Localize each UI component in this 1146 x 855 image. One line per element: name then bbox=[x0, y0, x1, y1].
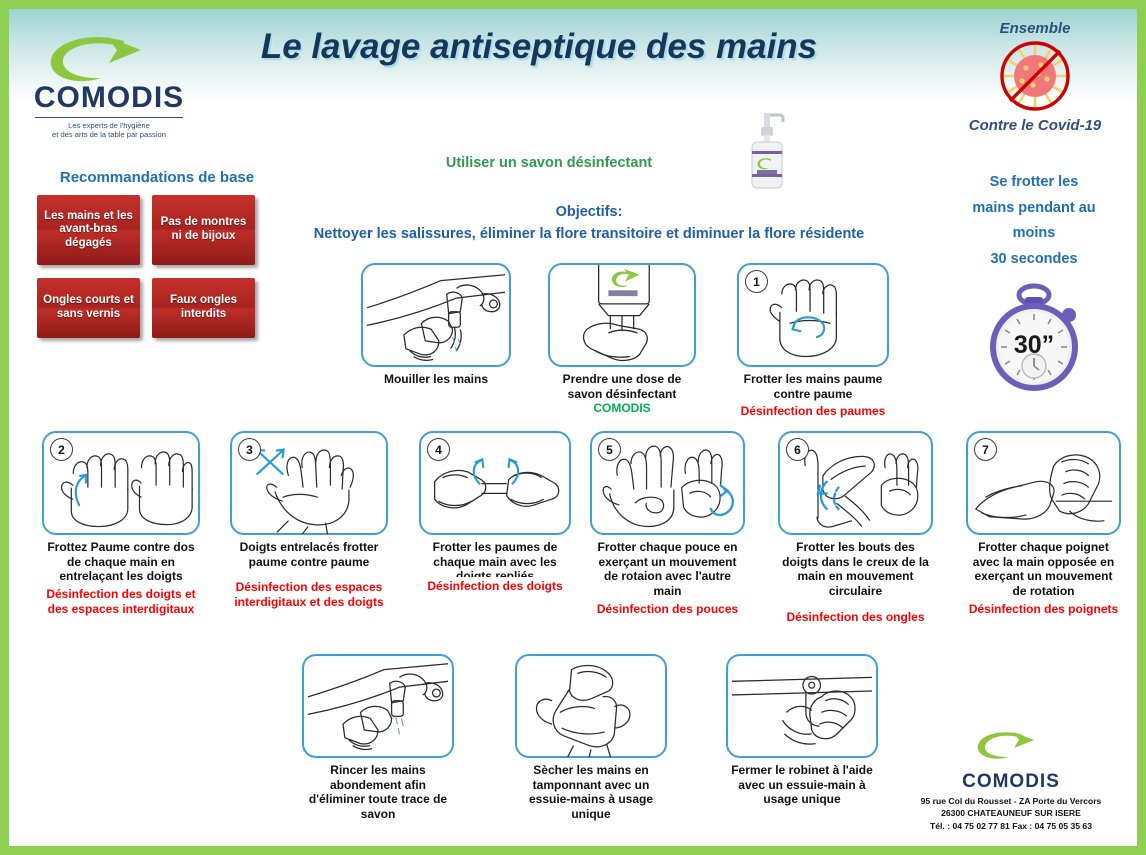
step-caption-1: Frotter les mains paume contre paume Dés… bbox=[737, 372, 889, 419]
timer-line-2: mains pendant au bbox=[943, 198, 1125, 219]
step-illustration-close-tap bbox=[726, 654, 878, 758]
step-illustration-wet-hands bbox=[361, 263, 511, 367]
step-caption-3-sub: Désinfection des espaces interdigitaux e… bbox=[230, 580, 388, 609]
step-take-soap: Prendre une dose de savon désinfectant C… bbox=[548, 263, 696, 416]
step-caption-6-text: Frotter les bouts des doigts dans le cre… bbox=[782, 540, 929, 598]
recommendation-box-1: Les mains et les avant-bras dégagés bbox=[37, 195, 140, 265]
step-illustration-7: 7 bbox=[966, 431, 1121, 535]
step-caption-2: Frottez Paume contre dos de chaque main … bbox=[42, 540, 200, 616]
close-tap-art bbox=[728, 656, 876, 757]
step-illustration-rinse bbox=[302, 654, 454, 758]
rinse-hands-art bbox=[304, 656, 452, 757]
step-caption-take-soap: Prendre une dose de savon désinfectant C… bbox=[548, 372, 696, 416]
swoosh-icon bbox=[29, 33, 189, 85]
step-3: 3 bbox=[230, 431, 388, 610]
step-caption-1-text: Frotter les mains paume contre paume bbox=[744, 372, 883, 401]
step-caption-6: Frotter les bouts des doigts dans le cre… bbox=[778, 540, 933, 624]
step-7: 7 Frotter chaque poignet avec la main op… bbox=[966, 431, 1121, 616]
step-caption-dry: Sècher les mains en tamponnant avec un e… bbox=[515, 763, 667, 822]
step-caption-7-sub: Désinfection des poignets bbox=[966, 602, 1121, 617]
step-illustration-2: 2 bbox=[42, 431, 200, 535]
step-6: 6 bbox=[778, 431, 933, 624]
recommendations-heading: Recommandations de base bbox=[37, 169, 277, 186]
dry-hands-art bbox=[517, 656, 665, 757]
timer-line-4: 30 secondes bbox=[943, 249, 1125, 270]
timer-line-1: Se frotter les bbox=[943, 172, 1125, 193]
step-number-badge-1: 1 bbox=[745, 270, 768, 293]
footer-address-line3: Tél. : 04 75 02 77 81 Fax : 04 75 05 35 … bbox=[901, 820, 1121, 832]
step-caption-rinse: Rincer les mains abondement afin d'élimi… bbox=[302, 763, 454, 822]
stopwatch-icon: 30” bbox=[943, 283, 1125, 393]
step-rinse: Rincer les mains abondement afin d'élimi… bbox=[302, 654, 454, 822]
covid-top-label: Ensemble bbox=[947, 20, 1123, 38]
soap-dispenser-icon bbox=[744, 107, 790, 193]
poster: COMODIS Les experts de l'hygiène et des … bbox=[0, 0, 1146, 855]
step-caption-close-tap: Fermer le robinet à l'aide avec un essui… bbox=[726, 763, 878, 807]
covid-badge: Ensemble bbox=[947, 15, 1123, 136]
step-illustration-1: 1 bbox=[737, 263, 889, 367]
step-number-badge-3: 3 bbox=[238, 438, 261, 461]
step-caption-3-text: Doigts entrelacés frotter paume contre p… bbox=[240, 540, 379, 569]
step-1: 1 Frotter les mains paume contre pa bbox=[737, 263, 889, 419]
recommendation-box-4: Faux ongles interdits bbox=[152, 278, 255, 338]
recommendation-box-3: Ongles courts et sans vernis bbox=[37, 278, 140, 338]
step-caption-7: Frotter chaque poignet avec la main oppo… bbox=[966, 540, 1121, 616]
step-dry: Sècher les mains en tamponnant avec un e… bbox=[515, 654, 667, 822]
step-4: 4 Frotter les paumes bbox=[419, 431, 571, 594]
step-illustration-6: 6 bbox=[778, 431, 933, 535]
step-illustration-3: 3 bbox=[230, 431, 388, 535]
step-caption-4-sub: Désinfection des doigts bbox=[419, 579, 571, 594]
step-caption-5: Frotter chaque pouce en exerçant un mouv… bbox=[590, 540, 745, 616]
step-caption-take-soap-brand: COMODIS bbox=[593, 401, 650, 415]
recommendation-box-2: Pas de montres ni de bijoux bbox=[152, 195, 255, 265]
footer-brand: COMODIS 95 rue Col du Rousset - ZA Porte… bbox=[901, 729, 1121, 832]
footer-address-line1: 95 rue Col du Rousset - ZA Porte du Verc… bbox=[901, 795, 1121, 807]
brand-name: COMODIS bbox=[29, 81, 189, 115]
timer-line-3: moins bbox=[943, 223, 1125, 244]
step-caption-5-text: Frotter chaque pouce en exerçant un mouv… bbox=[597, 540, 737, 598]
footer-swoosh-icon bbox=[901, 729, 1121, 774]
footer-brand-name: COMODIS bbox=[901, 771, 1121, 793]
step-5: 5 bbox=[590, 431, 745, 616]
recommendations-panel: Recommandations de base Les mains et les… bbox=[37, 169, 277, 338]
step-close-tap: Fermer le robinet à l'aide avec un essui… bbox=[726, 654, 878, 807]
wet-hands-art bbox=[363, 265, 509, 366]
step-illustration-4: 4 bbox=[419, 431, 571, 535]
step-caption-7-text: Frotter chaque poignet avec la main oppo… bbox=[973, 540, 1114, 598]
footer-address-line2: 26300 CHATEAUNEUF SUR ISERE bbox=[901, 807, 1121, 819]
page-title: Le lavage antiseptique des mains bbox=[209, 27, 869, 67]
objectives-text: Nettoyer les salissures, éliminer la flo… bbox=[259, 223, 919, 245]
step-number-badge-4: 4 bbox=[427, 438, 450, 461]
step-2: 2 bbox=[42, 431, 200, 616]
brand-tagline-line2: et des arts de la table par passion bbox=[29, 130, 189, 139]
step-caption-wet-hands: Mouiller les mains bbox=[361, 372, 511, 387]
timer-panel: Se frotter les mains pendant au moins 30… bbox=[943, 167, 1125, 393]
covid-bottom-label: Contre le Covid-19 bbox=[947, 117, 1123, 135]
logo-divider bbox=[35, 117, 183, 118]
step-illustration-5: 5 bbox=[590, 431, 745, 535]
step-number-badge-6: 6 bbox=[786, 438, 809, 461]
brand-tagline-line1: Les experts de l'hygiène bbox=[29, 121, 189, 130]
step-number-badge-5: 5 bbox=[598, 438, 621, 461]
take-soap-art bbox=[550, 265, 694, 366]
step-illustration-take-soap bbox=[548, 263, 696, 367]
brand-logo: COMODIS Les experts de l'hygiène et des … bbox=[29, 33, 189, 140]
objectives-label: Objectifs: bbox=[259, 201, 919, 223]
step-number-badge-2: 2 bbox=[50, 438, 73, 461]
use-soap-label: Utiliser un savon désinfectant bbox=[339, 155, 759, 171]
step-caption-2-text: Frottez Paume contre dos de chaque main … bbox=[47, 540, 194, 583]
step-number-badge-7: 7 bbox=[974, 438, 997, 461]
step-caption-5-sub: Désinfection des pouces bbox=[590, 602, 745, 617]
step-illustration-dry bbox=[515, 654, 667, 758]
objectives-block: Objectifs: Nettoyer les salissures, élim… bbox=[259, 201, 919, 246]
virus-crossed-icon bbox=[947, 40, 1123, 112]
step-caption-2-sub: Désinfection des doigts et des espaces i… bbox=[42, 587, 200, 616]
step-caption-3: Doigts entrelacés frotter paume contre p… bbox=[230, 540, 388, 610]
step-wet-hands: Mouiller les mains bbox=[361, 263, 511, 387]
stopwatch-value: 30” bbox=[1014, 331, 1054, 359]
step-caption-6-sub: Désinfection des ongles bbox=[778, 610, 933, 625]
step-caption-take-soap-text: Prendre une dose de savon désinfectant bbox=[563, 372, 682, 401]
step-caption-4-text: Frotter les paumes de chaque main avec l… bbox=[419, 540, 571, 577]
step-caption-1-sub: Désinfection des paumes bbox=[737, 404, 889, 419]
